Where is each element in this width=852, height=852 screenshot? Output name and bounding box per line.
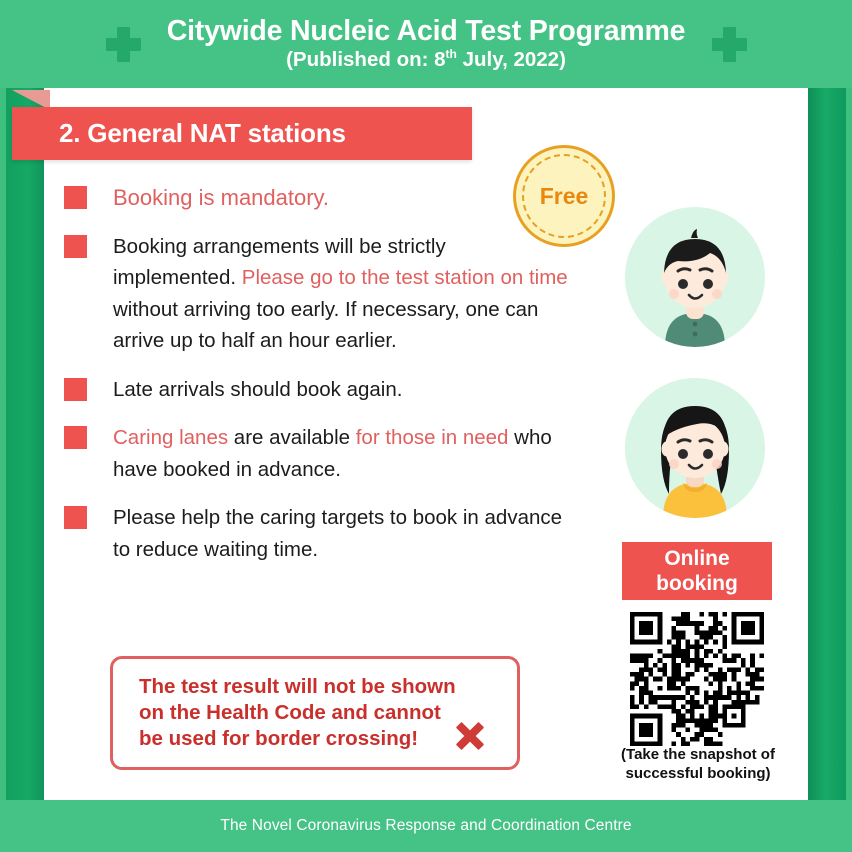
online-booking-label: Online booking [656, 546, 738, 596]
online-booking-line-2: booking [656, 571, 738, 596]
bullet-segment: Booking is mandatory. [113, 185, 329, 210]
boy-avatar [625, 207, 765, 347]
published-ordinal: th [446, 48, 457, 62]
bullet-text-late-arrivals: Late arrivals should book again. [113, 374, 574, 406]
bullet-text-booking-mandatory: Booking is mandatory. [113, 182, 574, 214]
qr-code-image [628, 612, 766, 746]
bullet-segment: Please go to the test station on time [242, 266, 568, 289]
bullet-segment: Caring lanes [113, 426, 228, 449]
bullet-square-icon [64, 235, 87, 258]
page-title: Citywide Nucleic Acid Test Programme [167, 16, 686, 48]
online-booking-button[interactable]: Online booking [622, 542, 772, 600]
bullet-segment: Please help the caring targets to book i… [113, 506, 562, 561]
left-green-band [6, 88, 46, 800]
warning-line-2: on the Health Code and cannot [139, 700, 456, 726]
published-prefix: (Published on: 8 [286, 48, 445, 71]
bullet-square-icon [64, 426, 87, 449]
bullet-item-booking-mandatory: Booking is mandatory. [64, 182, 574, 214]
bullet-item-caring-lanes: Caring lanes are available for those in … [64, 422, 574, 485]
boy-avatar-illustration [625, 207, 765, 347]
bullet-text-help-caring-targets: Please help the caring targets to book i… [113, 502, 574, 565]
bullet-segment: without arriving too early. If necessary… [113, 298, 538, 353]
bullet-text-caring-lanes: Caring lanes are available for those in … [113, 422, 574, 485]
bullet-segment: Late arrivals should book again. [113, 378, 402, 401]
warning-box: The test result will not be shown on the… [110, 656, 520, 770]
bullet-item-help-caring-targets: Please help the caring targets to book i… [64, 502, 574, 565]
bullet-item-booking-arrangements: Booking arrangements will be strictly im… [64, 231, 574, 357]
bullet-segment: are available [228, 426, 356, 449]
warning-line-1: The test result will not be shown [139, 674, 456, 700]
poster-root: Citywide Nucleic Acid Test Programme (Pu… [0, 0, 852, 852]
bullet-square-icon [64, 378, 87, 401]
bullet-text-booking-arrangements: Booking arrangements will be strictly im… [113, 231, 574, 357]
red-x-icon [455, 721, 485, 751]
medical-cross-icon-right [711, 26, 747, 62]
published-suffix: July, 2022) [457, 48, 566, 71]
free-badge: Free [513, 145, 615, 247]
medical-cross-icon-left [105, 26, 141, 62]
warning-line-3: be used for border crossing! [139, 726, 456, 752]
qr-caption: (Take the snapshot of successful booking… [600, 745, 796, 783]
bullet-square-icon [64, 506, 87, 529]
footer-banner: The Novel Coronavirus Response and Coord… [0, 800, 852, 852]
online-booking-line-1: Online [656, 546, 738, 571]
bullet-item-late-arrivals: Late arrivals should book again. [64, 374, 574, 406]
footer-text: The Novel Coronavirus Response and Coord… [220, 817, 631, 835]
bullet-square-icon [64, 186, 87, 209]
qr-caption-line-2: successful booking) [600, 764, 796, 783]
girl-avatar-illustration [625, 378, 765, 518]
section-title: 2. General NAT stations [12, 118, 346, 149]
bullet-segment: for those in need [356, 426, 509, 449]
right-green-band [808, 88, 846, 800]
booking-qr-code[interactable] [628, 612, 766, 746]
header-banner: Citywide Nucleic Acid Test Programme (Pu… [0, 0, 852, 88]
header-title-block: Citywide Nucleic Acid Test Programme (Pu… [167, 16, 686, 73]
warning-text: The test result will not be shown on the… [113, 674, 464, 752]
free-badge-label: Free [540, 183, 589, 210]
qr-caption-line-1: (Take the snapshot of [600, 745, 796, 764]
section-ribbon: 2. General NAT stations [12, 107, 472, 160]
bullet-list: Booking is mandatory.Booking arrangement… [64, 182, 574, 582]
girl-avatar [625, 378, 765, 518]
published-date: (Published on: 8th July, 2022) [167, 49, 686, 72]
